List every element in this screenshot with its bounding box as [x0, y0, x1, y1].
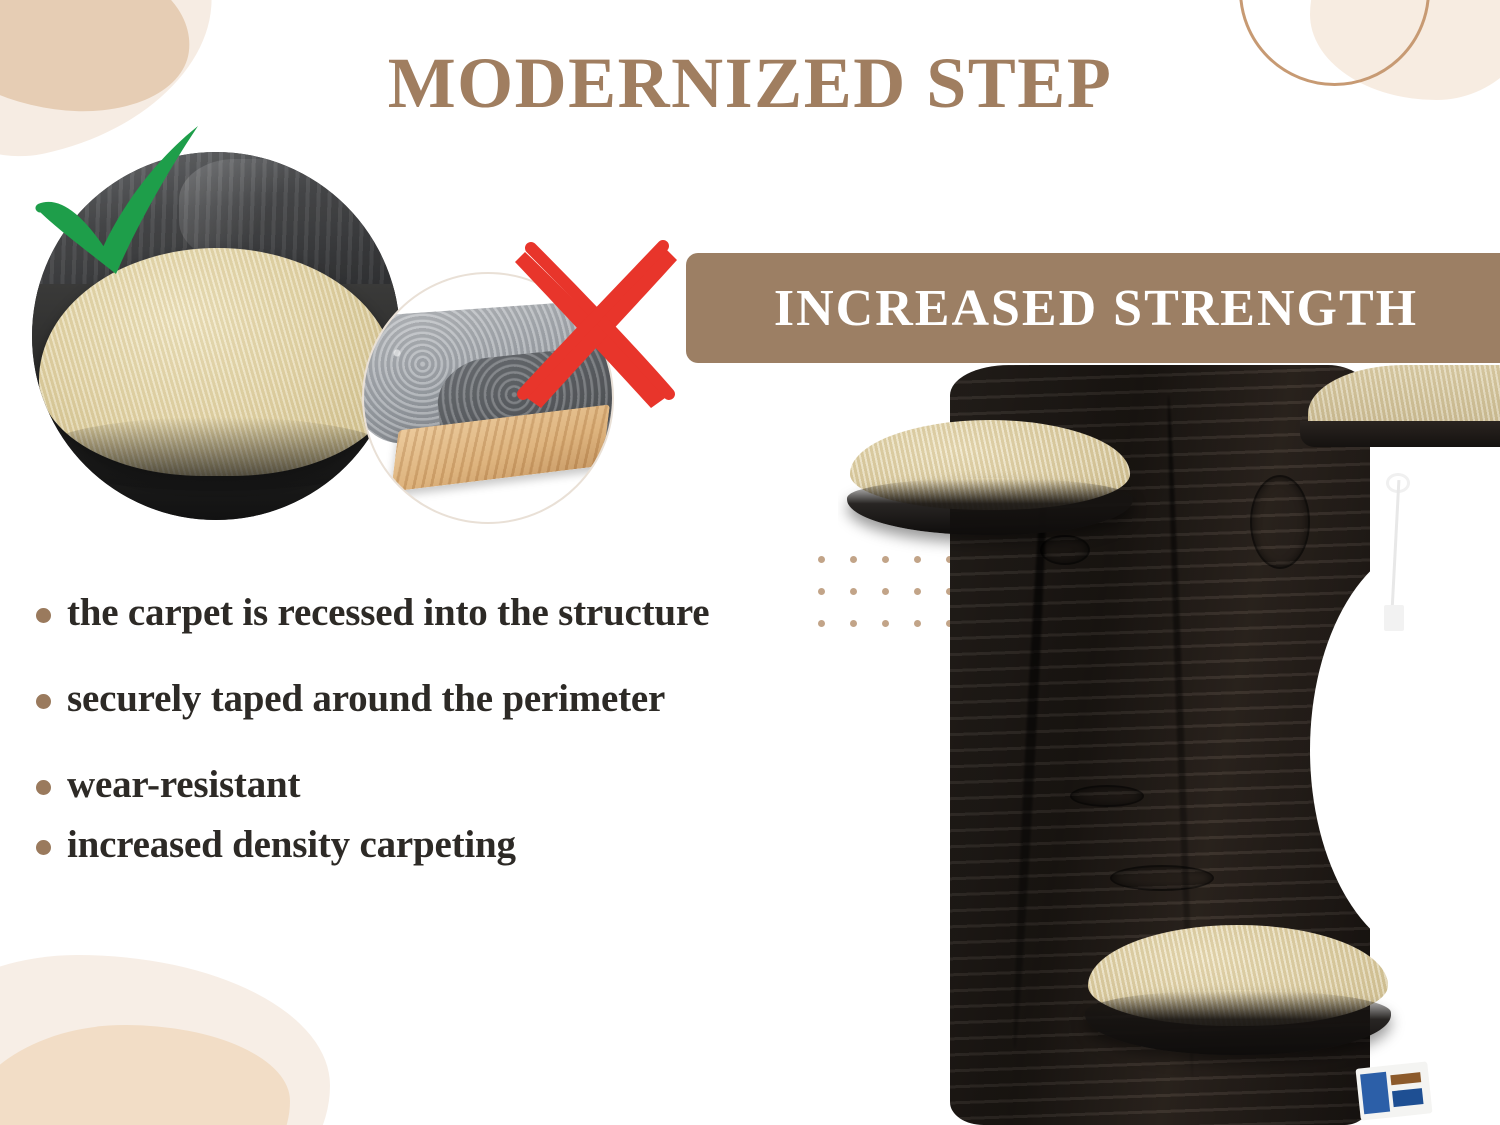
wood-knot [1040, 535, 1090, 565]
poster-canvas: MODERNIZED STEP INCREASED STRENGTH the c… [0, 0, 1500, 1125]
banner-label: INCREASED STRENGTH [774, 279, 1428, 338]
wood-knot [1070, 785, 1144, 807]
cross-mark-icon [505, 240, 685, 410]
approved-step-carpet-edge [36, 417, 397, 491]
list-item: wear-resistant [36, 760, 756, 810]
increased-strength-banner: INCREASED STRENGTH [686, 253, 1500, 363]
bullet-dot-icon [36, 608, 51, 623]
list-item-label: wear-resistant [67, 760, 300, 810]
list-item: securely taped around the perimeter [36, 674, 756, 724]
bullet-dot-icon [36, 780, 51, 795]
step-wood-rim [847, 478, 1133, 536]
product-top-edge [1300, 421, 1500, 447]
check-mark-icon [20, 118, 210, 278]
bullet-dot-icon [36, 840, 51, 855]
bullet-dot-icon [36, 694, 51, 709]
list-item: the carpet is recessed into the structur… [36, 588, 756, 638]
list-item-label: increased density carpeting [67, 820, 516, 870]
list-item-label: securely taped around the perimeter [67, 674, 665, 724]
product-step-upper [850, 420, 1130, 535]
product-photo [838, 365, 1500, 1125]
wood-knot [1110, 865, 1214, 891]
product-sticker [1355, 1061, 1432, 1120]
wood-knot [1250, 475, 1310, 569]
list-item: increased density carpeting [36, 820, 756, 870]
hang-tag [1384, 605, 1404, 631]
list-item-label: the carpet is recessed into the structur… [67, 588, 709, 638]
page-title: MODERNIZED STEP [0, 42, 1500, 125]
feature-list: the carpet is recessed into the structur… [36, 588, 756, 880]
step-wood-rim [1085, 990, 1391, 1055]
product-step-lower [1088, 925, 1388, 1055]
